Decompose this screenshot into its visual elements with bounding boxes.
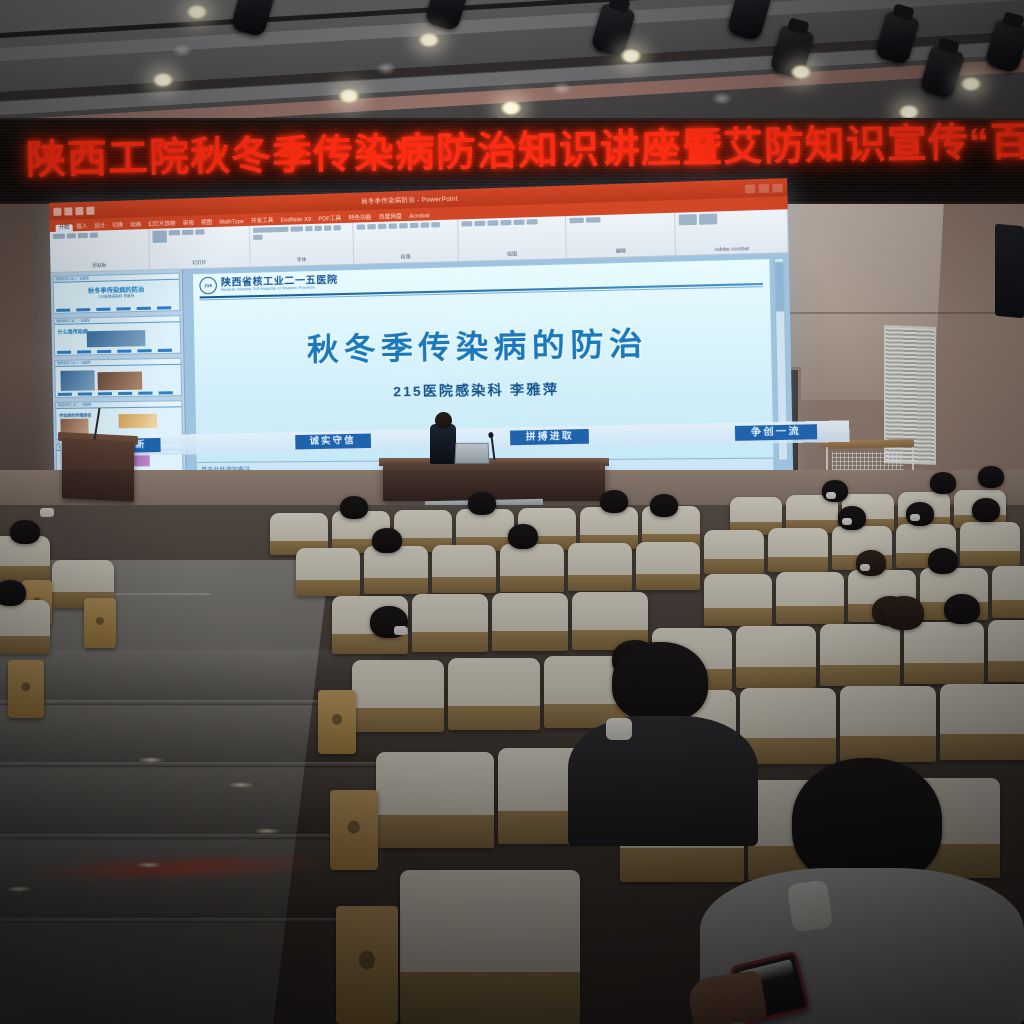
- thumbnail-header: 陕西省核工业二一五医院: [54, 316, 179, 325]
- recessed-downlight: [152, 72, 174, 88]
- audience-member: [944, 594, 980, 624]
- auditorium-seat[interactable]: [768, 528, 828, 572]
- seat-armrest: [8, 660, 44, 718]
- thumbnail-footer-bar: [56, 306, 177, 312]
- face-mask: [40, 508, 54, 517]
- thumbnail-footer-bar: [57, 349, 178, 354]
- ceiling: [0, 0, 1024, 128]
- ribbon-group-label: 剪贴板: [53, 261, 145, 270]
- audience-shoulders: [568, 716, 758, 846]
- thumbnail-image: [87, 330, 146, 347]
- auditorium-seat[interactable]: [940, 684, 1024, 760]
- auditorium-seat[interactable]: [636, 542, 700, 590]
- ribbon-group-font[interactable]: 字体: [250, 223, 354, 267]
- audience-member: [792, 758, 942, 886]
- folding-table-mesh: [832, 452, 904, 470]
- thumbnail-image: [98, 372, 143, 391]
- recessed-downlight: [376, 62, 396, 75]
- ribbon-group-label: Adobe Acrobat: [680, 245, 784, 253]
- face-mask: [394, 626, 407, 635]
- auditorium-seat[interactable]: [568, 543, 632, 591]
- floor-glint: [138, 757, 164, 763]
- audience-member: [978, 466, 1004, 488]
- face-mask: [842, 518, 852, 525]
- recessed-downlight: [960, 76, 982, 92]
- ribbon-group-label: 绘图: [462, 250, 562, 259]
- thumbnail-header: 陕西省核工业二一五医院: [55, 359, 180, 367]
- auditorium-seat[interactable]: [960, 522, 1020, 566]
- quick-access-toolbar[interactable]: [53, 206, 94, 215]
- stage-desk: [383, 463, 605, 501]
- auditorium-seat[interactable]: [0, 600, 50, 654]
- value-item: 拼搏进取: [510, 429, 589, 444]
- recessed-downlight: [172, 44, 192, 57]
- seat-armrest: [330, 790, 378, 870]
- audience-member: [508, 524, 538, 549]
- hospital-name-en: Nuclear Industry 215 Hospital of Shaanxi…: [221, 286, 338, 293]
- slide-title: 秋冬季传染病的防治: [194, 315, 771, 372]
- auditorium-seat[interactable]: [296, 548, 360, 596]
- auditorium-seat[interactable]: [352, 660, 444, 732]
- auditorium-seat[interactable]: [492, 593, 568, 651]
- thumbnail-header: 陕西省核工业二一五医院: [54, 274, 179, 283]
- auditorium-seat[interactable]: [500, 544, 564, 592]
- audience-member: [930, 472, 956, 494]
- presenter-body: [430, 424, 456, 464]
- hospital-logo-icon: 215: [199, 277, 217, 295]
- auditorium-seat[interactable]: [820, 624, 900, 686]
- auditorium-seat[interactable]: [736, 626, 816, 688]
- seat-armrest: [336, 906, 398, 1024]
- auditorium-seat[interactable]: [704, 530, 764, 574]
- aisle-step-edge: [0, 918, 380, 923]
- recessed-downlight: [338, 88, 360, 104]
- thumbnail-header: 陕西省核工业二一五医院: [56, 401, 181, 409]
- audience-member: [10, 520, 40, 544]
- floor-glint: [228, 782, 254, 788]
- aisle-step-edge: [0, 834, 380, 839]
- led-banner-text: 陕西工院秋冬季传染病防治知识讲座暨艾防知识宣传“百千万校园行”师资培训会: [0, 118, 1024, 181]
- window-controls[interactable]: [745, 183, 783, 193]
- recessed-downlight: [186, 4, 208, 20]
- stage-spotlight: [726, 0, 772, 42]
- wall-speaker: [995, 224, 1024, 319]
- close-icon: [772, 183, 783, 192]
- auditorium-seat[interactable]: [704, 574, 772, 626]
- auditorium-seat[interactable]: [992, 566, 1024, 618]
- wooden-podium: [62, 438, 134, 502]
- ribbon-group-clipboard[interactable]: 剪贴板: [50, 229, 150, 272]
- value-item: 争创一流: [735, 425, 817, 441]
- auditorium-seat[interactable]: [448, 658, 540, 730]
- audience-member: [884, 596, 924, 630]
- slide-thumbnail[interactable]: 陕西省核工业二一五医院 什么是传染病: [53, 315, 181, 356]
- presenter-head: [435, 412, 452, 429]
- audience-member: [650, 494, 678, 517]
- ribbon-group-drawing[interactable]: 绘图: [458, 216, 566, 261]
- recessed-downlight: [552, 82, 572, 95]
- slide-thumbnail[interactable]: 陕西省核工业二一五医院: [54, 358, 182, 398]
- audience-member: [340, 496, 368, 519]
- ribbon-group-slides[interactable]: 幻灯片: [149, 226, 251, 270]
- recessed-downlight: [418, 32, 440, 48]
- powerpoint-workspace: 陕西省核工业二一五医院 秋冬季传染病的防治 215医院感染科 李雅萍 陕西省核工…: [51, 253, 794, 491]
- seat-armrest: [84, 598, 116, 648]
- thumbnail-image: [118, 414, 157, 429]
- auditorium-seat[interactable]: [412, 594, 488, 652]
- audience-member: [372, 528, 402, 553]
- aisle-step: [0, 768, 384, 836]
- minimize-icon: [745, 184, 755, 193]
- auditorium-seat[interactable]: [840, 686, 936, 762]
- auditorium-seat[interactable]: [988, 620, 1024, 682]
- aisle-step-edge: [0, 762, 380, 767]
- face-mask: [606, 718, 632, 740]
- recessed-downlight: [620, 48, 642, 64]
- recessed-downlight: [790, 64, 812, 80]
- slide-thumbnail[interactable]: 陕西省核工业二一五医院 秋冬季传染病的防治 215医院感染科 李雅萍: [53, 273, 181, 314]
- audience-member: [0, 580, 26, 606]
- floor-glint: [254, 828, 280, 834]
- value-item: 诚实守信: [295, 434, 371, 449]
- audience-member: [600, 490, 628, 513]
- seat-armrest: [318, 690, 356, 754]
- recessed-downlight: [500, 100, 522, 116]
- maximize-icon: [759, 184, 769, 193]
- ribbon-group-paragraph[interactable]: 段落: [353, 219, 459, 263]
- auditorium-seat[interactable]: [904, 622, 984, 684]
- thumbnail-image: [60, 370, 94, 391]
- recessed-downlight: [712, 92, 732, 105]
- auditorium-seat[interactable]: [400, 870, 580, 1024]
- presenter-laptop: [455, 443, 490, 464]
- ribbon-group-label: 段落: [357, 253, 455, 262]
- auditorium-seat[interactable]: [364, 546, 428, 594]
- thumbnail-footer-bar: [58, 391, 179, 396]
- auditorium-seat[interactable]: [776, 572, 844, 624]
- audience-member: [822, 480, 848, 502]
- stage-spotlight: [984, 18, 1024, 74]
- audience-member: [468, 492, 496, 515]
- ribbon-group-label: 编辑: [570, 247, 672, 256]
- slide-presenter: 215医院感染科 李雅萍: [195, 375, 772, 403]
- ribbon-group-label: 字体: [254, 256, 350, 265]
- face-mask: [910, 514, 920, 521]
- face-mask: [787, 879, 833, 932]
- auditorium-seat[interactable]: [432, 545, 496, 593]
- audience-member: [612, 642, 708, 722]
- ribbon-group-label: 幻灯片: [153, 259, 247, 268]
- auditorium-seat[interactable]: [376, 752, 494, 848]
- audience-member: [972, 498, 1000, 522]
- face-mask: [826, 492, 836, 499]
- ribbon-group-editing[interactable]: 编辑: [566, 213, 677, 258]
- auditorium-photo: 陕西工院秋冬季传染病防治知识讲座暨艾防知识宣传“百千万校园行”师资培训会 秋冬季…: [0, 0, 1024, 1024]
- face-mask: [860, 564, 870, 571]
- floor-glint: [136, 862, 162, 868]
- audience-member: [928, 548, 958, 574]
- audience-member: [856, 550, 886, 576]
- ribbon-group-acrobat[interactable]: Adobe Acrobat: [676, 209, 789, 255]
- floor-glint: [6, 886, 32, 892]
